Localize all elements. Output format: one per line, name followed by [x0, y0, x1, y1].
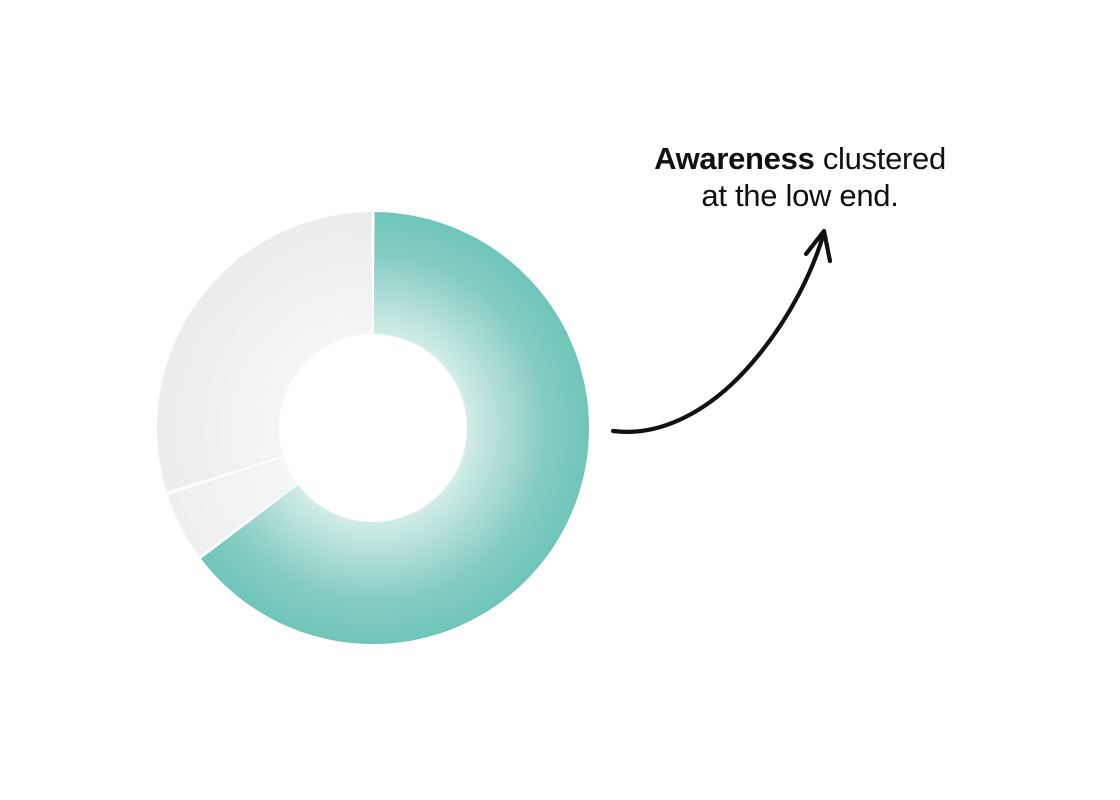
- annotation-line2: at the low end.: [600, 177, 1000, 214]
- annotation-line1-rest: clustered: [815, 141, 946, 176]
- donut-chart-figure: [0, 0, 1120, 800]
- annotation-highlight: Awareness: [654, 141, 814, 176]
- callout-annotation: Awareness clustered at the low end.: [600, 140, 1000, 214]
